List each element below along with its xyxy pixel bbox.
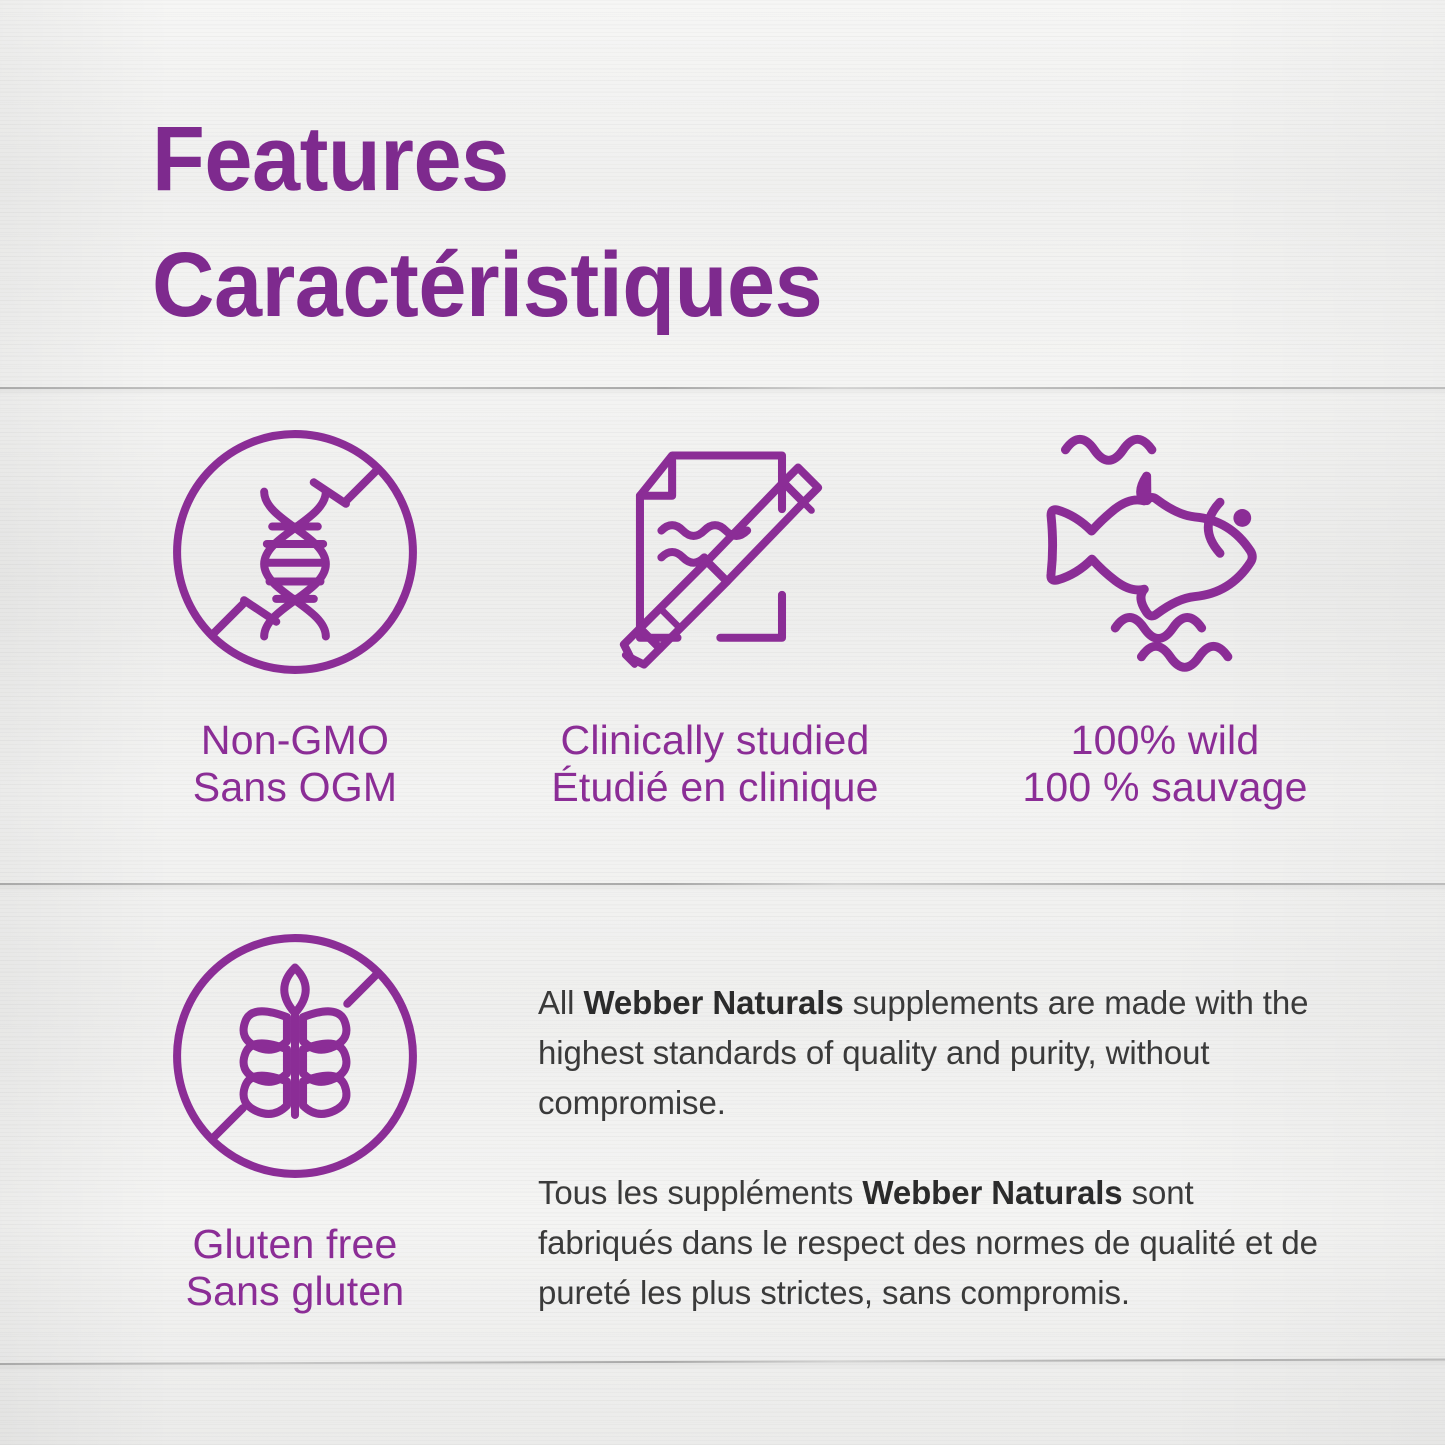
brand-name-en: Webber Naturals: [583, 984, 843, 1021]
feature-non-gmo-captions: Non-GMO Sans OGM: [100, 717, 490, 811]
feature-100-percent-wild-label-en: 100% wild: [950, 717, 1380, 764]
feature-clinically-studied-label-en: Clinically studied: [480, 717, 950, 764]
page-title-fr: Caractéristiques: [152, 222, 822, 348]
feature-non-gmo-label-en: Non-GMO: [100, 717, 490, 764]
fish-waves-icon: [950, 418, 1380, 691]
brand-copy-fr-before: Tous les suppléments: [538, 1174, 862, 1211]
feature-gluten-free-captions: Gluten free Sans gluten: [100, 1221, 490, 1315]
feature-clinically-studied-captions: Clinically studied Étudié en clinique: [480, 717, 950, 811]
feature-non-gmo-label-fr: Sans OGM: [100, 764, 490, 811]
brand-copy-en-before: All: [538, 984, 583, 1021]
brand-copy-fr: Tous les suppléments Webber Naturals son…: [538, 1168, 1320, 1318]
plank-seam-3: [0, 1357, 1445, 1366]
brand-copy: All Webber Naturals supplements are made…: [538, 978, 1320, 1318]
clipboard-pen-icon: [480, 418, 950, 691]
feature-gluten-free-label-en: Gluten free: [100, 1221, 490, 1268]
plank-seam-2: [0, 882, 1445, 886]
feature-100-percent-wild-label-fr: 100 % sauvage: [950, 764, 1380, 811]
feature-gluten-free: Gluten free Sans gluten: [100, 922, 490, 1315]
feature-100-percent-wild-captions: 100% wild 100 % sauvage: [950, 717, 1380, 811]
page-title-en: Features: [152, 96, 822, 222]
feature-gluten-free-label-fr: Sans gluten: [100, 1268, 490, 1315]
page-title: Features Caractéristiques: [152, 96, 865, 348]
features-panel: Features Caractéristiques: [0, 0, 1445, 1445]
feature-non-gmo: Non-GMO Sans OGM: [100, 418, 490, 811]
feature-100-percent-wild: 100% wild 100 % sauvage: [950, 418, 1380, 811]
brand-name-fr: Webber Naturals: [862, 1174, 1122, 1211]
no-gluten-wheat-icon: [100, 922, 490, 1195]
no-gmo-dna-icon: [100, 418, 490, 691]
plank-seam-1: [0, 386, 1445, 390]
brand-copy-en: All Webber Naturals supplements are made…: [538, 978, 1320, 1128]
feature-clinically-studied-label-fr: Étudié en clinique: [480, 764, 950, 811]
feature-clinically-studied: Clinically studied Étudié en clinique: [480, 418, 950, 811]
